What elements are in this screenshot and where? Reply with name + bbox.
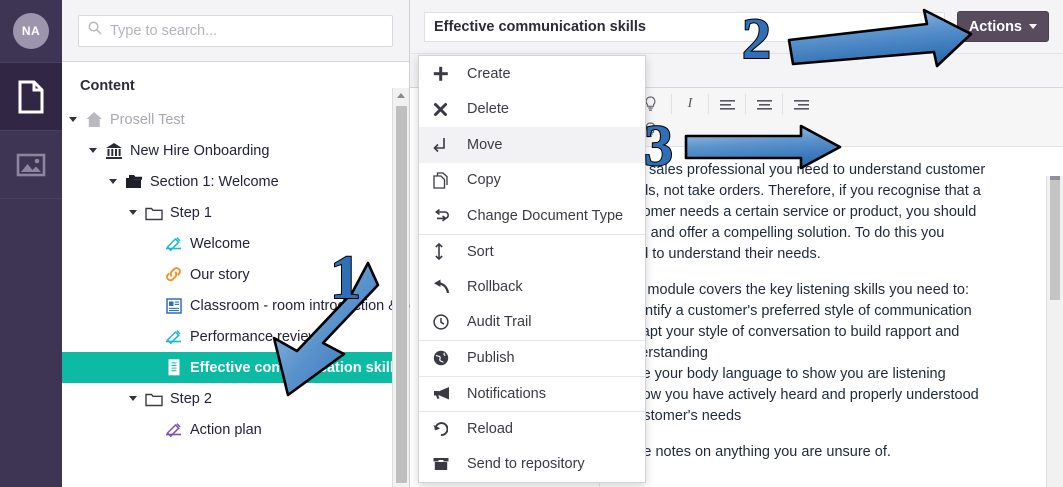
move-icon xyxy=(433,137,467,153)
editor-paragraph: Make notes on anything you are unsure of… xyxy=(616,442,1047,463)
editor-scrollbar-thumb[interactable] xyxy=(1050,180,1060,300)
undo-arrow-icon xyxy=(433,279,467,294)
swap-icon xyxy=(433,209,467,222)
editor-line: need to understand their needs. xyxy=(616,244,1047,265)
align-right-icon[interactable] xyxy=(787,92,815,116)
documents-icon xyxy=(16,80,46,114)
reload-icon xyxy=(433,421,467,437)
tree-item-section-1-welcome[interactable]: Section 1: Welcome xyxy=(62,166,409,197)
tree-item-performance-review[interactable]: Performance review xyxy=(62,321,409,352)
actions-menu-item-label: Notifications xyxy=(467,386,546,402)
article-icon xyxy=(165,298,183,314)
actions-menu-item-label: Copy xyxy=(467,172,501,188)
document-header: Effective communication skills Actions xyxy=(410,0,1063,54)
tree-scrollbar-thumb[interactable] xyxy=(396,106,407,483)
tree-item-label: Section 1: Welcome xyxy=(150,174,279,190)
actions-menu-item-label: Sort xyxy=(467,244,494,260)
editor-line: - Use your body language to show you are… xyxy=(616,364,1047,385)
scroll-up-icon[interactable] xyxy=(393,88,409,103)
actions-menu-item-send-to-repository[interactable]: Send to repository xyxy=(419,447,645,483)
rail-item-media[interactable] xyxy=(0,130,62,198)
caret-down-icon[interactable] xyxy=(68,117,78,122)
copy-icon xyxy=(433,172,467,189)
edit-purple-icon xyxy=(165,422,183,438)
editor-body[interactable]: As a sales professional you need to unde… xyxy=(600,147,1063,487)
avatar[interactable]: NA xyxy=(13,13,49,49)
left-icon-rail: NA xyxy=(0,0,62,487)
link-icon xyxy=(165,266,183,283)
editor-line: Make notes on anything you are unsure of… xyxy=(616,442,1047,463)
editor-paragraph: As a sales professional you need to unde… xyxy=(616,160,1047,265)
search-icon xyxy=(88,21,102,40)
editor-line: As a sales professional you need to unde… xyxy=(616,160,1047,181)
editor-line: This module covers the key listening ski… xyxy=(616,280,1047,301)
archive-box-icon xyxy=(433,457,467,471)
rail-empty-space xyxy=(0,198,62,487)
plus-icon xyxy=(433,66,467,82)
tree-item-label: Step 2 xyxy=(170,391,212,407)
actions-menu-item-label: Move xyxy=(467,137,502,153)
tree-item-action-plan[interactable]: Action plan xyxy=(62,414,409,445)
actions-menu-item-label: Rollback xyxy=(467,279,523,295)
actions-menu-item-label: Change Document Type xyxy=(467,208,623,224)
search-bar-zone: Type to search... xyxy=(62,0,409,62)
actions-menu-item-rollback[interactable]: Rollback xyxy=(419,269,645,305)
annotation-number-1: 1 xyxy=(330,243,361,314)
globe-icon xyxy=(433,350,467,366)
tree-item-label: New Hire Onboarding xyxy=(130,143,269,159)
caret-down-icon[interactable] xyxy=(128,210,138,215)
editor-line: - Identify a customer's preferred style … xyxy=(616,301,1047,322)
tree-item-label: Prosell Test xyxy=(110,112,185,128)
editor-line: needs, not take orders. Therefore, if yo… xyxy=(616,181,1047,202)
actions-button-label: Actions xyxy=(969,19,1022,35)
actions-menu-item-label: Publish xyxy=(467,350,515,366)
sort-icon xyxy=(433,243,467,260)
tree-item-step-1[interactable]: Step 1 xyxy=(62,197,409,228)
toolbar-separator xyxy=(782,94,783,114)
actions-menu-item-notifications[interactable]: Notifications xyxy=(419,376,645,412)
actions-menu-item-label: Audit Trail xyxy=(467,314,531,330)
annotation-number-3: 3 xyxy=(644,112,673,179)
avatar-zone: NA xyxy=(0,0,62,62)
search-placeholder: Type to search... xyxy=(110,23,217,39)
actions-menu-item-label: Delete xyxy=(467,101,509,117)
actions-menu-item-label: Create xyxy=(467,66,511,82)
megaphone-icon xyxy=(433,386,467,401)
chevron-down-icon xyxy=(1029,24,1037,29)
editor-line: build and offer a compelling solution. T… xyxy=(616,223,1047,244)
tree-item-effective-communication-skills[interactable]: Effective communication skills xyxy=(62,352,409,383)
actions-menu-item-change-document-type[interactable]: Change Document Type xyxy=(419,198,645,234)
italic-icon[interactable]: I xyxy=(676,92,704,116)
editor-line: understanding xyxy=(616,343,1047,364)
caret-down-icon[interactable] xyxy=(88,148,98,153)
tree-item-label: Action plan xyxy=(190,422,262,438)
actions-menu-item-sort[interactable]: Sort xyxy=(419,234,645,270)
folder-icon xyxy=(145,205,163,221)
tree-item-label: Our story xyxy=(190,267,250,283)
actions-menu-item-label: Reload xyxy=(467,421,513,437)
align-left-icon[interactable] xyxy=(713,92,741,116)
actions-menu: CreateDeleteMoveCopyChange Document Type… xyxy=(418,55,646,483)
editor-scrollbar[interactable] xyxy=(1046,176,1063,487)
rail-item-documents[interactable] xyxy=(0,62,62,130)
editor-paragraph: This module covers the key listening ski… xyxy=(616,280,1047,427)
doc-icon xyxy=(165,359,183,376)
x-icon xyxy=(433,102,467,117)
editor-line: - Adapt your style of conversation to bu… xyxy=(616,322,1047,343)
folders-icon xyxy=(125,173,143,190)
actions-menu-item-create[interactable]: Create xyxy=(419,56,645,92)
toolbar-separator xyxy=(708,94,709,114)
edit-icon xyxy=(165,329,183,345)
search-input[interactable]: Type to search... xyxy=(78,15,393,47)
caret-down-icon[interactable] xyxy=(108,179,118,184)
clock-icon xyxy=(433,314,467,330)
actions-menu-item-label: Send to repository xyxy=(467,456,585,472)
tree-item-new-hire-onboarding[interactable]: New Hire Onboarding xyxy=(62,135,409,166)
actions-menu-item-audit-trail[interactable]: Audit Trail xyxy=(419,305,645,341)
align-center-icon[interactable] xyxy=(750,92,778,116)
document-title-input[interactable]: Effective communication skills xyxy=(424,12,945,42)
editor-line: a customer's needs xyxy=(616,406,1047,427)
actions-menu-item-delete[interactable]: Delete xyxy=(419,92,645,128)
toolbar-separator xyxy=(671,94,672,114)
edit-icon xyxy=(165,236,183,252)
home-icon xyxy=(85,111,103,128)
toolbar-separator xyxy=(745,94,746,114)
actions-menu-item-publish[interactable]: Publish xyxy=(419,340,645,376)
tree-item-label: Welcome xyxy=(190,236,250,252)
tree-heading: Content xyxy=(62,62,409,104)
tree-item-step-2[interactable]: Step 2 xyxy=(62,383,409,414)
tree-scrollbar[interactable] xyxy=(392,88,409,487)
actions-menu-item-move[interactable]: Move xyxy=(419,127,645,163)
actions-button[interactable]: Actions xyxy=(957,11,1049,42)
tree-item-label: Step 1 xyxy=(170,205,212,221)
caret-down-icon[interactable] xyxy=(128,396,138,401)
editor-line: - Show you have actively heard and prope… xyxy=(616,385,1047,406)
editor-line: customer needs a certain service or prod… xyxy=(616,202,1047,223)
bank-icon xyxy=(105,142,123,160)
tree-item-label: Effective communication skills xyxy=(190,360,402,376)
annotation-number-2: 2 xyxy=(742,5,771,72)
media-icon xyxy=(16,152,46,178)
folder-icon xyxy=(145,391,163,407)
tree-item-label: Performance review xyxy=(190,329,319,345)
actions-menu-item-copy[interactable]: Copy xyxy=(419,163,645,199)
tree-item-prosell-test[interactable]: Prosell Test xyxy=(62,104,409,135)
actions-menu-item-reload[interactable]: Reload xyxy=(419,411,645,447)
app-root: NA Type to search... Content Prosell Tes… xyxy=(0,0,1063,487)
